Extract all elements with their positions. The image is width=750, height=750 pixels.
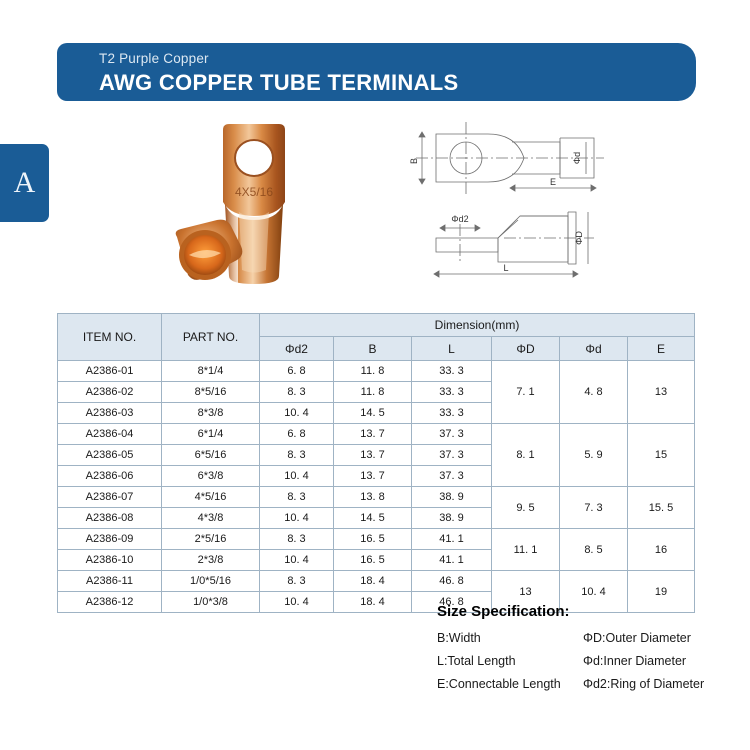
cell-l: 38. 9	[412, 487, 492, 508]
cell-part-no: 6*1/4	[162, 424, 260, 445]
dim-label-b: B	[409, 158, 419, 164]
cell-b: 13. 7	[334, 445, 412, 466]
cell-phi-d: 8. 5	[560, 529, 628, 571]
cell-l: 41. 1	[412, 529, 492, 550]
dim-b-arrow-top	[419, 132, 425, 137]
cell-phi-d2: 10. 4	[260, 466, 334, 487]
table-body: A2386-018*1/46. 811. 833. 37. 14. 813A23…	[58, 361, 695, 613]
cell-b: 11. 8	[334, 361, 412, 382]
cell-item-no: A2386-12	[58, 592, 162, 613]
side-view-bend	[498, 220, 518, 238]
dim-phid2-arrow-left	[440, 225, 445, 231]
cell-part-no: 2*3/8	[162, 550, 260, 571]
product-photo: 4X5/16	[155, 112, 350, 297]
table-header-row-1: ITEM NO. PART NO. Dimension(mm)	[58, 314, 695, 337]
spec-item-phiD: ΦD:Outer Diameter	[583, 631, 737, 645]
cell-b: 16. 5	[334, 529, 412, 550]
cell-phi-d2: 6. 8	[260, 361, 334, 382]
cell-item-no: A2386-01	[58, 361, 162, 382]
cell-phi-d2: 8. 3	[260, 487, 334, 508]
cell-item-no: A2386-07	[58, 487, 162, 508]
cell-phi-d2: 10. 4	[260, 592, 334, 613]
cell-l: 33. 3	[412, 382, 492, 403]
cell-part-no: 8*5/16	[162, 382, 260, 403]
drawings-svg: B E Φd Φd2	[408, 112, 703, 292]
dim-b-arrow-bottom	[419, 179, 425, 184]
header-l: L	[412, 337, 492, 361]
header-banner: T2 Purple Copper AWG COPPER TUBE TERMINA…	[57, 43, 696, 101]
table-row: A2386-046*1/46. 813. 737. 38. 15. 915	[58, 424, 695, 445]
spec-item-e: E:Connectable Length	[437, 677, 583, 691]
cell-item-no: A2386-06	[58, 466, 162, 487]
barrel-highlight	[239, 212, 269, 273]
cell-part-no: 4*3/8	[162, 508, 260, 529]
table-row: A2386-074*5/168. 313. 838. 99. 57. 315. …	[58, 487, 695, 508]
cell-item-no: A2386-03	[58, 403, 162, 424]
cell-b: 11. 8	[334, 382, 412, 403]
header-phi-d: Φd	[560, 337, 628, 361]
dim-e-arrow-left	[510, 185, 515, 191]
cell-item-no: A2386-10	[58, 550, 162, 571]
header-phi-d2: Φd2	[260, 337, 334, 361]
cell-phi-D: 11. 1	[492, 529, 560, 571]
cell-phi-D: 9. 5	[492, 487, 560, 529]
cell-l: 33. 3	[412, 403, 492, 424]
dim-label-e: E	[550, 177, 556, 187]
cell-l: 37. 3	[412, 424, 492, 445]
specification-table: ITEM NO. PART NO. Dimension(mm) Φd2 B L …	[57, 313, 695, 613]
dim-label-l: L	[503, 263, 508, 273]
dim-label-phid2: Φd2	[451, 214, 468, 224]
cell-part-no: 2*5/16	[162, 529, 260, 550]
cell-l: 38. 9	[412, 508, 492, 529]
table-header: ITEM NO. PART NO. Dimension(mm) Φd2 B L …	[58, 314, 695, 361]
cell-phi-d2: 8. 3	[260, 529, 334, 550]
banner-subtitle: T2 Purple Copper	[99, 50, 696, 67]
cell-item-no: A2386-08	[58, 508, 162, 529]
spec-item-b: B:Width	[437, 631, 583, 645]
cell-phi-d: 7. 3	[560, 487, 628, 529]
cell-b: 13. 7	[334, 424, 412, 445]
spec-item-phid2: Φd2:Ring of Diameter	[583, 677, 737, 691]
cell-part-no: 6*5/16	[162, 445, 260, 466]
cell-phi-d2: 8. 3	[260, 445, 334, 466]
spec-item-phid: Φd:Inner Diameter	[583, 654, 737, 668]
cell-b: 14. 5	[334, 403, 412, 424]
cell-item-no: A2386-09	[58, 529, 162, 550]
table-row: A2386-018*1/46. 811. 833. 37. 14. 813	[58, 361, 695, 382]
side-tab-letter: A	[14, 168, 36, 198]
dim-label-phid: Φd	[572, 152, 582, 164]
cell-l: 37. 3	[412, 445, 492, 466]
dim-l-arrow-left	[434, 271, 439, 277]
stamp-text: 4X5/16	[235, 185, 273, 199]
dim-label-phiD: ΦD	[574, 231, 584, 245]
page-title: AWG COPPER TUBE TERMINALS	[99, 68, 696, 98]
header-phi-D: ΦD	[492, 337, 560, 361]
header-b: B	[334, 337, 412, 361]
dim-l-arrow-right	[573, 271, 578, 277]
cell-item-no: A2386-02	[58, 382, 162, 403]
technical-drawings: B E Φd Φd2	[408, 112, 703, 292]
cell-part-no: 4*5/16	[162, 487, 260, 508]
header-e: E	[628, 337, 695, 361]
cell-part-no: 1/0*3/8	[162, 592, 260, 613]
cell-e: 15	[628, 424, 695, 487]
side-tab-a: A	[0, 144, 49, 222]
cell-e: 15. 5	[628, 487, 695, 529]
cell-l: 46. 8	[412, 571, 492, 592]
cell-l: 33. 3	[412, 361, 492, 382]
cell-phi-D: 8. 1	[492, 424, 560, 487]
header-item-no: ITEM NO.	[58, 314, 162, 361]
cell-part-no: 8*3/8	[162, 403, 260, 424]
cell-phi-d2: 8. 3	[260, 571, 334, 592]
cell-phi-d: 4. 8	[560, 361, 628, 424]
side-view-tongue	[436, 238, 498, 252]
cell-phi-d: 5. 9	[560, 424, 628, 487]
cell-item-no: A2386-05	[58, 445, 162, 466]
cell-l: 41. 1	[412, 550, 492, 571]
header-part-no: PART NO.	[162, 314, 260, 361]
spec-item-l: L:Total Length	[437, 654, 583, 668]
cell-phi-d2: 10. 4	[260, 403, 334, 424]
cell-l: 37. 3	[412, 466, 492, 487]
size-spec-title: Size Specification:	[437, 603, 737, 620]
cell-b: 14. 5	[334, 508, 412, 529]
dim-phid2-arrow-right	[475, 225, 480, 231]
cell-phi-d2: 6. 8	[260, 424, 334, 445]
cell-e: 13	[628, 361, 695, 424]
cell-part-no: 1/0*5/16	[162, 571, 260, 592]
cell-b: 16. 5	[334, 550, 412, 571]
header-dimension-group: Dimension(mm)	[260, 314, 695, 337]
cell-item-no: A2386-11	[58, 571, 162, 592]
cell-part-no: 8*1/4	[162, 361, 260, 382]
side-view-barrel	[498, 216, 568, 262]
cell-phi-d2: 10. 4	[260, 508, 334, 529]
product-photo-image: 4X5/16	[155, 112, 350, 297]
cell-b: 13. 7	[334, 466, 412, 487]
dim-e-arrow-right	[591, 185, 596, 191]
size-spec-grid: B:Width ΦD:Outer Diameter L:Total Length…	[437, 631, 737, 691]
table-row: A2386-092*5/168. 316. 541. 111. 18. 516	[58, 529, 695, 550]
cell-part-no: 6*3/8	[162, 466, 260, 487]
cell-phi-d2: 10. 4	[260, 550, 334, 571]
cell-phi-D: 7. 1	[492, 361, 560, 424]
cell-b: 18. 4	[334, 571, 412, 592]
cell-b: 13. 8	[334, 487, 412, 508]
table-row: A2386-111/0*5/168. 318. 446. 81310. 419	[58, 571, 695, 592]
cell-phi-d2: 8. 3	[260, 382, 334, 403]
cell-e: 16	[628, 529, 695, 571]
cell-item-no: A2386-04	[58, 424, 162, 445]
size-specification: Size Specification: B:Width ΦD:Outer Dia…	[437, 603, 737, 691]
cell-b: 18. 4	[334, 592, 412, 613]
